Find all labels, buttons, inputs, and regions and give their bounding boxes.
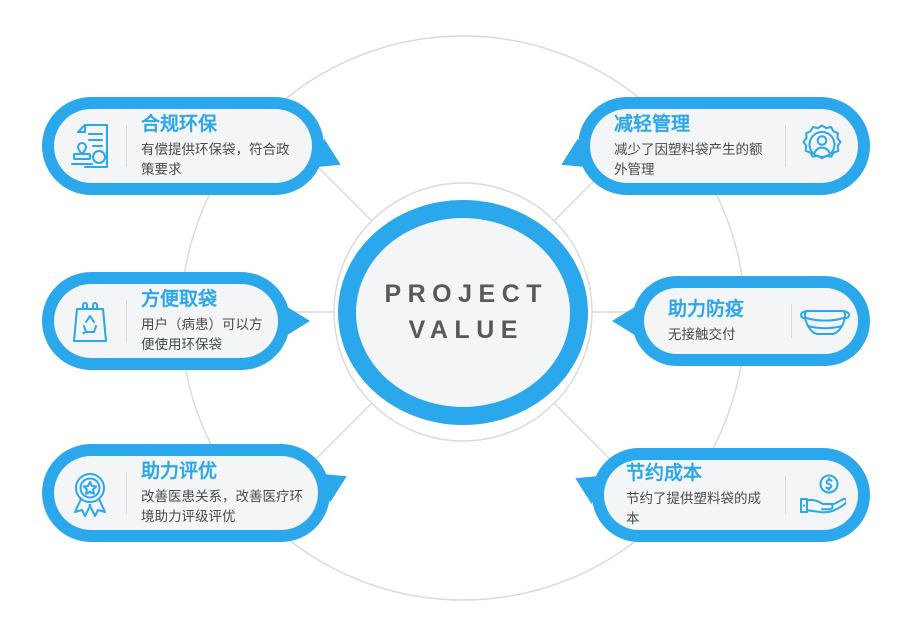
diagram-canvas: PROJECT VALUE	[0, 0, 913, 634]
card-cost[interactable]: 节约成本 节约了提供塑料袋的成本	[592, 448, 870, 542]
card-evaluation[interactable]: 助力评优 改善医患关系，改善医疗环境助力评级评优	[42, 444, 330, 542]
card-management-tail	[554, 139, 591, 179]
recycle-bag-icon	[54, 297, 126, 345]
card-evaluation-body: 助力评优 改善医患关系，改善医疗环境助力评级评优	[54, 456, 318, 530]
card-compliance[interactable]: 合规环保 有偿提供环保袋，符合政策要求	[42, 97, 324, 195]
card-epidemic[interactable]: 助力防疫 无接触交付	[632, 276, 870, 366]
card-convenience-body: 方便取袋 用户（病患）可以方便使用环保袋	[54, 284, 278, 358]
center-hub: PROJECT VALUE	[338, 200, 588, 425]
card-management[interactable]: 减轻管理 减少了因塑料袋产生的额外管理	[578, 97, 870, 195]
document-stamp-icon	[54, 122, 126, 170]
card-epidemic-body: 助力防疫 无接触交付	[644, 288, 858, 354]
card-cost-desc: 节约了提供塑料袋的成本	[626, 489, 771, 530]
card-epidemic-desc: 无接触交付	[668, 325, 777, 345]
card-compliance-tail	[310, 139, 347, 179]
card-compliance-desc: 有偿提供环保袋，符合政策要求	[141, 140, 298, 181]
card-compliance-text: 合规环保 有偿提供环保袋，符合政策要求	[127, 112, 312, 180]
medal-award-icon	[54, 468, 126, 518]
card-compliance-title: 合规环保	[141, 112, 298, 138]
card-evaluation-text: 助力评优 改善医患关系，改善医疗环境助力评级评优	[127, 459, 318, 527]
card-management-body: 减轻管理 减少了因塑料袋产生的额外管理	[590, 109, 858, 183]
card-management-text: 减轻管理 减少了因塑料袋产生的额外管理	[590, 112, 785, 180]
card-epidemic-text: 助力防疫 无接触交付	[644, 297, 791, 345]
center-hub-inner: PROJECT VALUE	[356, 218, 570, 407]
card-epidemic-tail	[612, 305, 638, 337]
card-cost-body: 节约成本 节约了提供塑料袋的成本	[604, 460, 858, 530]
card-convenience[interactable]: 方便取袋 用户（病患）可以方便使用环保袋	[42, 272, 290, 370]
card-convenience-text: 方便取袋 用户（病患）可以方便使用环保袋	[127, 287, 278, 355]
center-title-line2: VALUE	[402, 313, 524, 349]
card-convenience-desc: 用户（病患）可以方便使用环保袋	[141, 315, 264, 356]
card-convenience-tail	[284, 305, 310, 337]
card-evaluation-title: 助力评优	[141, 459, 304, 485]
card-management-desc: 减少了因塑料袋产生的额外管理	[614, 140, 771, 181]
card-cost-text: 节约成本 节约了提供塑料袋的成本	[604, 461, 785, 529]
card-cost-title: 节约成本	[626, 461, 771, 487]
gear-person-icon	[786, 123, 858, 169]
card-evaluation-desc: 改善医患关系，改善医疗环境助力评级评优	[141, 487, 304, 528]
card-management-title: 减轻管理	[614, 112, 771, 138]
face-mask-icon	[792, 304, 858, 338]
card-epidemic-title: 助力防疫	[668, 297, 777, 323]
card-compliance-body: 合规环保 有偿提供环保袋，符合政策要求	[54, 109, 312, 183]
center-title-line1: PROJECT	[378, 277, 548, 313]
card-cost-tail	[568, 464, 605, 504]
card-evaluation-tail	[316, 462, 353, 502]
hand-coin-icon	[786, 474, 858, 516]
card-convenience-title: 方便取袋	[141, 287, 264, 313]
